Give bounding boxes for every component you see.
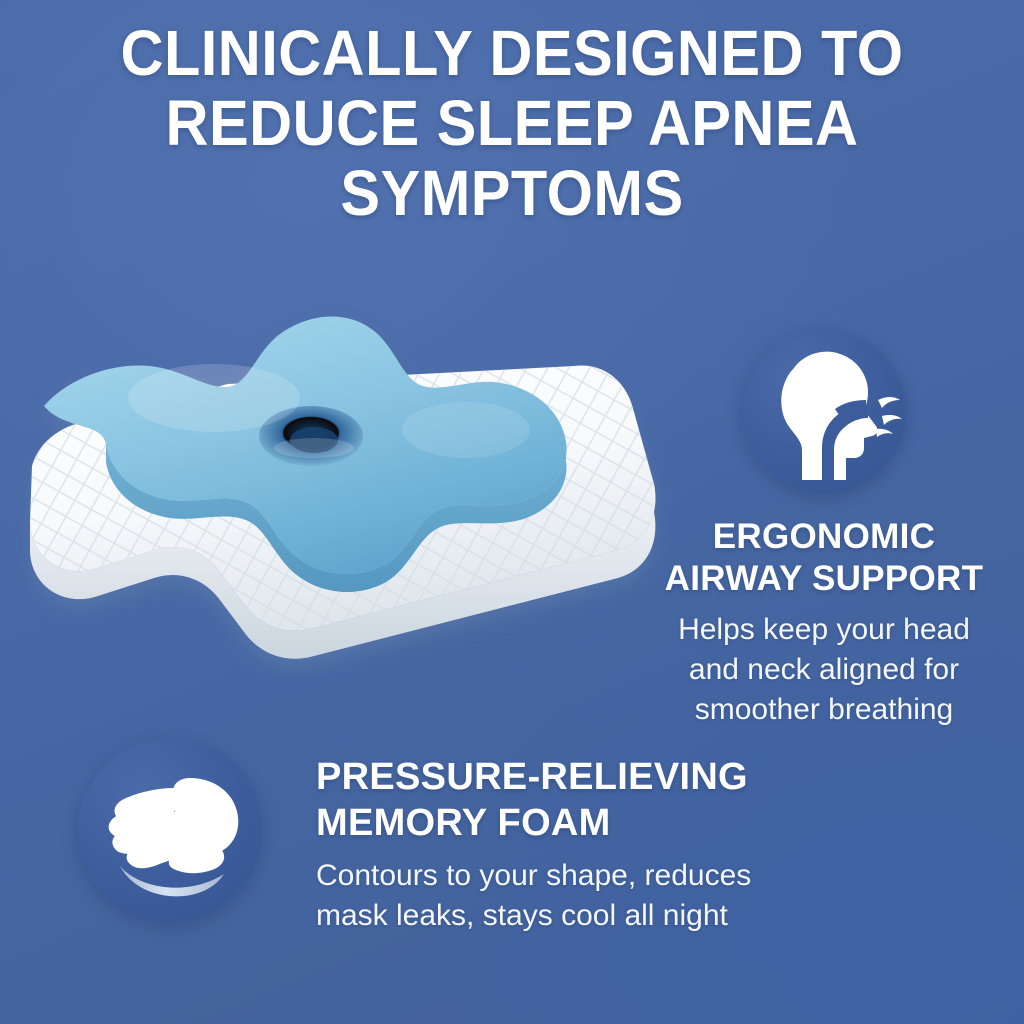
product-infographic-poster: CLINICALLY DESIGNED TO REDUCE SLEEP APNE… bbox=[0, 0, 1024, 1024]
head-airway-breathing-icon bbox=[742, 330, 906, 494]
feature-foam-title: PRESSURE-RELIEVING MEMORY FOAM bbox=[316, 754, 958, 846]
feature-airway-title: ERGONOMIC AIRWAY SUPPORT bbox=[624, 516, 1024, 600]
feature-pressure-relieving-memory-foam: PRESSURE-RELIEVING MEMORY FOAM Contours … bbox=[78, 732, 958, 936]
page-title: CLINICALLY DESIGNED TO REDUCE SLEEP APNE… bbox=[36, 18, 988, 228]
feature-airway-description: Helps keep your head and neck aligned fo… bbox=[624, 610, 1024, 730]
feature-foam-text-block: PRESSURE-RELIEVING MEMORY FOAM Contours … bbox=[316, 732, 958, 936]
feature-ergonomic-airway-support: ERGONOMIC AIRWAY SUPPORT Helps keep your… bbox=[624, 330, 1024, 730]
feature-foam-description: Contours to your shape, reduces mask lea… bbox=[316, 856, 958, 936]
product-pillow-image bbox=[14, 288, 714, 678]
hand-pressing-foam-icon bbox=[78, 738, 262, 922]
